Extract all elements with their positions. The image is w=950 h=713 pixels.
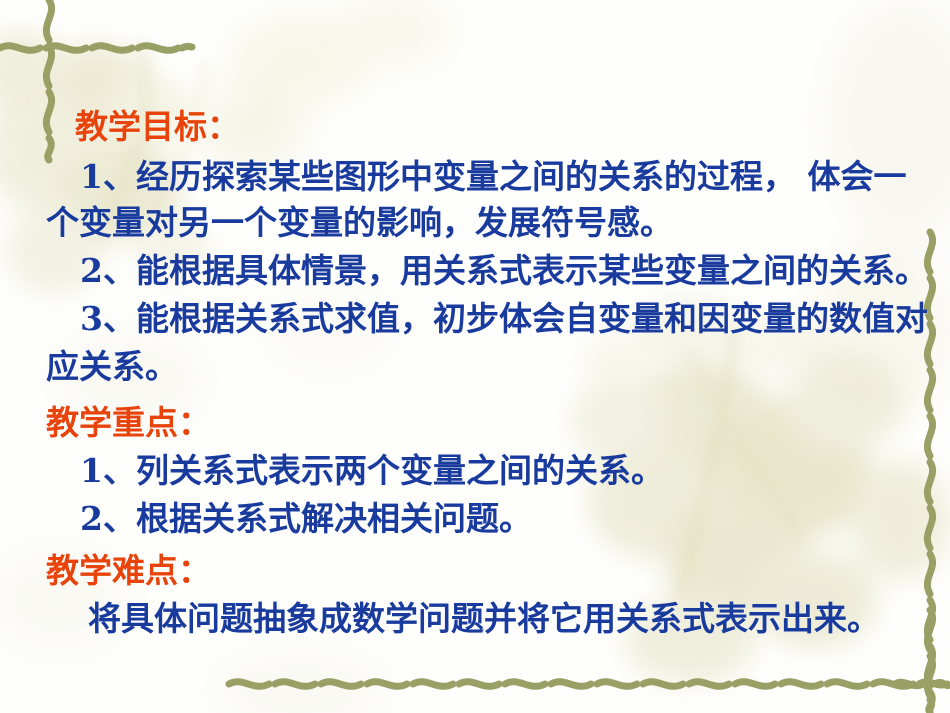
heading-teaching-objectives: 教学目标： <box>75 108 240 146</box>
objective-line-3-continued: 应关系。 <box>46 348 178 386</box>
keypoint-line-2: 2、根据关系式解决相关问题。 <box>80 500 532 538</box>
keypoint-line-1: 1、列关系式表示两个变量之间的关系。 <box>80 452 664 490</box>
objective-line-1-continued: 个变量对另一个变量的影响，发展符号感。 <box>46 204 673 242</box>
slide-text-body: 教学目标： 1、经历探索某些图形中变量之间的关系的过程， 体会一 个变量对另一个… <box>0 0 950 713</box>
objective-line-2: 2、能根据具体情景，用关系式表示某些变量之间的关系。 <box>80 252 928 290</box>
heading-key-points: 教学重点： <box>46 404 211 442</box>
objective-line-1: 1、经历探索某些图形中变量之间的关系的过程， 体会一 <box>80 158 906 196</box>
slide-canvas: 教学目标： 1、经历探索某些图形中变量之间的关系的过程， 体会一 个变量对另一个… <box>0 0 950 713</box>
heading-difficult-points: 教学难点： <box>46 552 211 590</box>
objective-line-3: 3、能根据关系式求值，初步体会自变量和因变量的数值对 <box>80 300 928 338</box>
difficulty-line-1: 将具体问题抽象成数学问题并将它用关系式表示出来。 <box>88 600 880 638</box>
